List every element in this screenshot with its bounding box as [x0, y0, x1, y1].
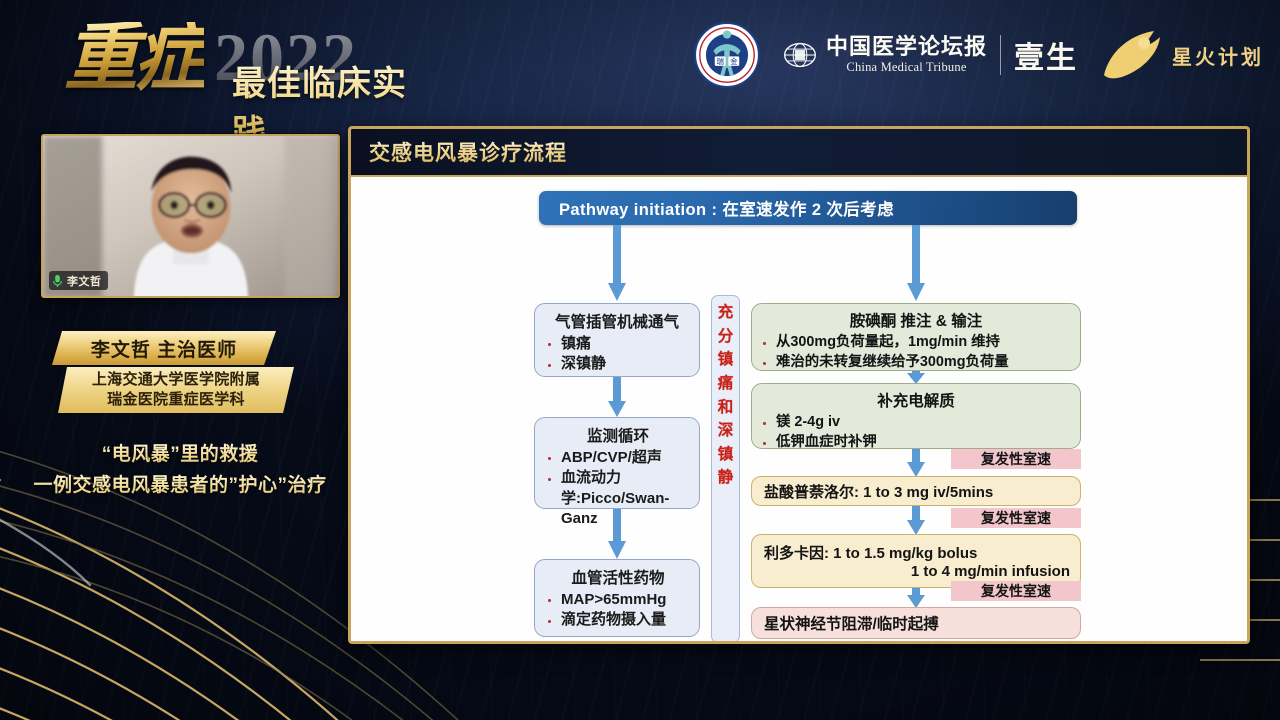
arrow-down-to-left-branch [606, 225, 628, 305]
flow-box-lidocaine-line-1: 利多卡因: 1 to 1.5 mg/kg bolus [764, 542, 1080, 563]
flow-box-amiodarone: 胺碘酮 推注 & 输注 从300mg负荷量起，1mg/min 维持 难治的未转复… [751, 303, 1081, 371]
arrow-propranolol-to-lidocaine [905, 506, 927, 536]
vertical-sedation-strip: 充 分 镇 痛 和 深 镇 静 [711, 295, 740, 643]
china-medical-tribune-logo: 中国医学论坛报 China Medical Tribune 壹生 [783, 33, 1078, 77]
flow-box-intubation: 气管插管机械通气 镇痛 深镇静 [534, 303, 700, 377]
vertical-char: 镇 [718, 444, 734, 467]
flow-box-monitoring-items: ABP/CVP/超声 血流动力学:Picco/Swan-Ganz [541, 448, 695, 530]
vertical-char: 充 [718, 302, 734, 325]
svg-text:瑞: 瑞 [716, 56, 724, 66]
list-item: 深镇静 [541, 354, 693, 374]
vertical-char: 和 [718, 397, 734, 420]
speaker-name-plate: 李文哲 主治医师 [52, 331, 276, 365]
list-item: 镇痛 [541, 334, 693, 354]
list-item: ABP/CVP/超声 [541, 448, 695, 468]
xinghuo-label: 星火计划 [1172, 41, 1264, 70]
xinghuo-program-logo: 星火计划 [1100, 27, 1264, 83]
flow-box-monitoring: 监测循环 ABP/CVP/超声 血流动力学:Picco/Swan-Ganz [534, 417, 700, 509]
speaker-affiliation-plate: 上海交通大学医学院附属 瑞金医院重症医学科 [58, 367, 294, 413]
affiliation-line-2: 瑞金医院重症医学科 [107, 390, 245, 410]
flow-box-lidocaine: 利多卡因: 1 to 1.5 mg/kg bolus 1 to 4 mg/min… [751, 534, 1081, 588]
flow-box-amiodarone-title: 胺碘酮 推注 & 输注 [756, 309, 1076, 331]
recurrent-vt-label: 复发性室速 [981, 449, 1051, 469]
list-item: MAP>65mmHg [541, 590, 695, 610]
speaker-video-tile[interactable]: 李文哲 [41, 134, 340, 298]
talk-title-line-1: “电风暴”里的救援 [10, 440, 350, 471]
arrow-green2-to-propranolol [905, 448, 927, 478]
flow-box-propranolol: 盐酸普萘洛尔: 1 to 3 mg iv/5mins [751, 476, 1081, 506]
flow-box-intubation-title: 气管插管机械通气 [541, 310, 693, 332]
microphone-icon [52, 274, 63, 288]
slide-title-bar: 交感电风暴诊疗流程 [351, 129, 1247, 177]
svg-text:金: 金 [730, 56, 738, 66]
list-item: 难治的未转复继续给予300mg负荷量 [756, 353, 1076, 373]
vertical-char: 痛 [718, 373, 734, 396]
globe-icon [783, 42, 817, 68]
slide-title: 交感电风暴诊疗流程 [369, 137, 567, 167]
list-item: 血流动力学:Picco/Swan-Ganz [541, 468, 695, 529]
recurrent-vt-label: 复发性室速 [981, 508, 1051, 528]
flow-box-monitoring-title: 监测循环 [541, 424, 695, 446]
flow-box-propranolol-text: 盐酸普萘洛尔: 1 to 3 mg iv/5mins [764, 481, 993, 502]
ruijin-hospital-logo-icon: 瑞 金 [693, 21, 761, 89]
affiliation-line-1: 上海交通大学医学院附属 [92, 370, 260, 390]
mic-speaker-name: 李文哲 [67, 273, 102, 289]
flow-box-electrolytes-title: 补充电解质 [756, 389, 1076, 411]
recurrent-vt-label: 复发性室速 [981, 581, 1051, 601]
vertical-char: 分 [718, 326, 734, 349]
cmt-english-name: China Medical Tribune [846, 61, 966, 74]
arrow-lidocaine-to-stellate [905, 587, 927, 609]
recurrent-vt-badge-1: 复发性室速 [951, 449, 1081, 469]
flow-box-lidocaine-line-2: 1 to 4 mg/min infusion [764, 563, 1080, 580]
partner-logos: 瑞 金 中国医学论坛报 China Medical Tribune 壹生 星火计… [693, 14, 1264, 96]
pathway-initiation-text: Pathway initiation : 在室速发作 2 次后考虑 [559, 196, 894, 220]
speaker-name-title: 李文哲 主治医师 [91, 335, 237, 362]
recurrent-vt-badge-2: 复发性室速 [951, 508, 1081, 528]
talk-title: “电风暴”里的救援 一例交感电风暴患者的”护心”治疗 [10, 440, 350, 502]
event-brand-main: 重症 [64, 22, 204, 96]
mic-name-badge: 李文哲 [49, 271, 108, 290]
presentation-slide[interactable]: 交感电风暴诊疗流程 Pathway initiation : 在室速发作 2 次… [348, 126, 1250, 644]
pathway-initiation-banner: Pathway initiation : 在室速发作 2 次后考虑 [539, 191, 1077, 225]
arrow-left-box1-to-box2 [606, 375, 628, 419]
flow-box-vasoactive: 血管活性药物 MAP>65mmHg 滴定药物摄入量 [534, 559, 700, 637]
recurrent-vt-badge-3: 复发性室速 [951, 581, 1081, 601]
flow-box-vasoactive-title: 血管活性药物 [541, 566, 695, 588]
flow-box-electrolytes: 补充电解质 镁 2-4g iv 低钾血症时补钾 [751, 383, 1081, 449]
slide-content: Pathway initiation : 在室速发作 2 次后考虑 气管 [351, 177, 1247, 644]
flow-box-amiodarone-items: 从300mg负荷量起，1mg/min 维持 难治的未转复继续给予300mg负荷量 [756, 333, 1076, 372]
yisheng-logo-text: 壹生 [1014, 33, 1078, 77]
vertical-char: 深 [718, 420, 734, 443]
flow-box-intubation-items: 镇痛 深镇静 [541, 334, 693, 375]
event-logo: 2022 重症 最佳临床实践 [46, 10, 426, 110]
flying-figure-icon [1100, 27, 1166, 83]
flow-box-stellate-block-text: 星状神经节阻滞/临时起搏 [764, 612, 939, 634]
flow-box-vasoactive-items: MAP>65mmHg 滴定药物摄入量 [541, 590, 695, 631]
arrow-down-to-right-branch [905, 225, 927, 305]
list-item: 镁 2-4g iv [756, 413, 1076, 433]
vertical-char: 静 [718, 467, 734, 490]
flow-box-electrolytes-items: 镁 2-4g iv 低钾血症时补钾 [756, 413, 1076, 452]
logo-divider [1000, 35, 1001, 75]
list-item: 从300mg负荷量起，1mg/min 维持 [756, 333, 1076, 353]
vertical-char: 镇 [718, 349, 734, 372]
flow-box-stellate-block: 星状神经节阻滞/临时起搏 [751, 607, 1081, 639]
cmt-chinese-name: 中国医学论坛报 [826, 36, 987, 58]
talk-title-line-2: 一例交感电风暴患者的”护心”治疗 [10, 471, 350, 502]
list-item: 滴定药物摄入量 [541, 610, 695, 630]
